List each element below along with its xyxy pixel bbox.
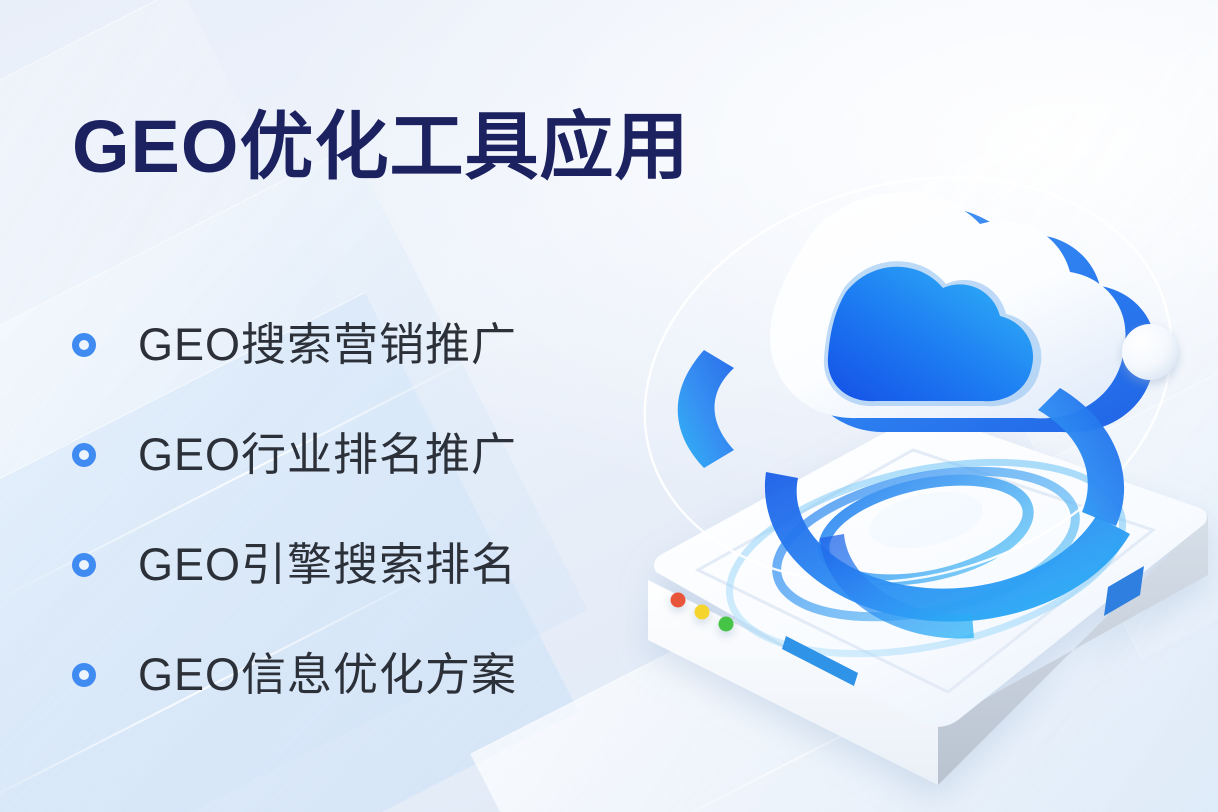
feature-item-3[interactable]: GEO引擎搜索排名 xyxy=(72,510,712,620)
feature-item-label: GEO行业排名推广 xyxy=(138,432,517,477)
feature-item-label: GEO搜索营销推广 xyxy=(138,322,517,367)
feature-item-2[interactable]: GEO行业排名推广 xyxy=(72,400,712,510)
feature-item-label: GEO引擎搜索排名 xyxy=(138,542,517,587)
ring-bullet-icon xyxy=(72,553,96,577)
traffic-light-green-dot xyxy=(719,617,734,632)
ring-bullet-icon xyxy=(72,443,96,467)
copy-block: GEO优化工具应用 GEO搜索营销推广 GEO行业排名推广 GEO引擎搜索排名 … xyxy=(72,108,712,730)
orbit-sphere-icon xyxy=(1122,324,1178,380)
page-title: GEO优化工具应用 xyxy=(72,108,712,186)
ring-bullet-icon xyxy=(72,663,96,687)
feature-list: GEO搜索营销推广 GEO行业排名推广 GEO引擎搜索排名 GEO信息优化方案 xyxy=(72,290,712,730)
feature-item-4[interactable]: GEO信息优化方案 xyxy=(72,620,712,730)
feature-item-1[interactable]: GEO搜索营销推广 xyxy=(72,290,712,400)
ring-bullet-icon xyxy=(72,333,96,357)
poster-canvas: GEO优化工具应用 GEO搜索营销推广 GEO行业排名推广 GEO引擎搜索排名 … xyxy=(0,0,1218,812)
feature-item-label: GEO信息优化方案 xyxy=(138,652,517,697)
cloud-icon xyxy=(770,192,1156,432)
